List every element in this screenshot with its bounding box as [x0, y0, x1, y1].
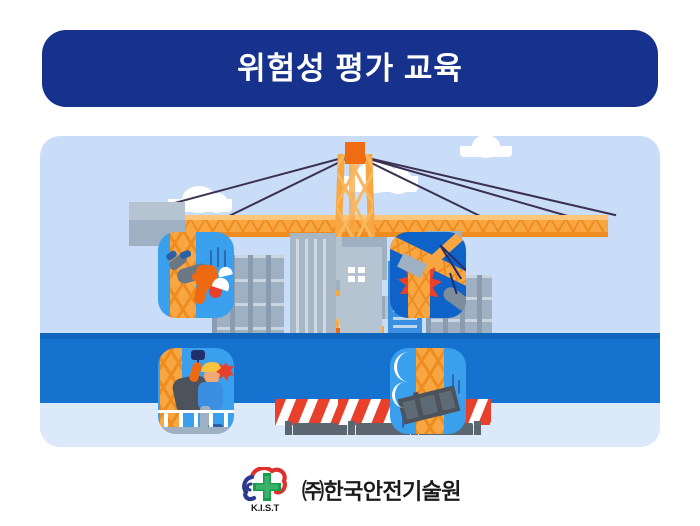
hazard-card-worker-falling[interactable] [158, 232, 234, 318]
railing-post [209, 410, 213, 428]
motion-line [452, 374, 454, 388]
hazard-card-mast-section-falling[interactable] [390, 348, 466, 434]
motion-line [458, 380, 460, 394]
footer-logo-row: K.I.S.T ㈜한국안전기술원 [0, 462, 700, 518]
motion-line [217, 247, 219, 267]
company-name: ㈜한국안전기술원 [302, 474, 461, 506]
building-windows [348, 267, 374, 289]
page-title: 위험성 평가 교육 [237, 53, 463, 84]
site-hoarding [40, 339, 660, 403]
work-platform [158, 427, 234, 434]
hazard-card-crane-collapse[interactable] [390, 232, 466, 318]
kist-logo-icon: K.I.S.T [239, 467, 291, 513]
motion-line [402, 414, 404, 428]
railing-post [164, 410, 168, 428]
railing-post [194, 410, 198, 428]
hazard-card-falling-object[interactable] [158, 348, 234, 434]
motion-arc [392, 382, 413, 408]
building-grey [340, 247, 382, 339]
poster-page: 위험성 평가 교육 [0, 0, 700, 526]
motion-line [224, 250, 226, 267]
logo-abbreviation: K.I.S.T [239, 503, 291, 514]
logo-cross-icon [252, 472, 282, 502]
safety-helmet-icon [217, 265, 233, 277]
railing-post [179, 410, 183, 428]
motion-arc [394, 352, 419, 382]
building-tower [290, 233, 336, 339]
crane-counterweight-top [129, 202, 185, 220]
title-banner: 위험성 평가 교육 [42, 30, 658, 107]
illustration-panel [40, 136, 660, 447]
crane-apex [345, 142, 365, 164]
railing-post [224, 410, 228, 428]
crane-tie-cable [157, 154, 355, 209]
jib-lattice [152, 220, 604, 232]
site-hoarding-top-edge [40, 333, 660, 339]
